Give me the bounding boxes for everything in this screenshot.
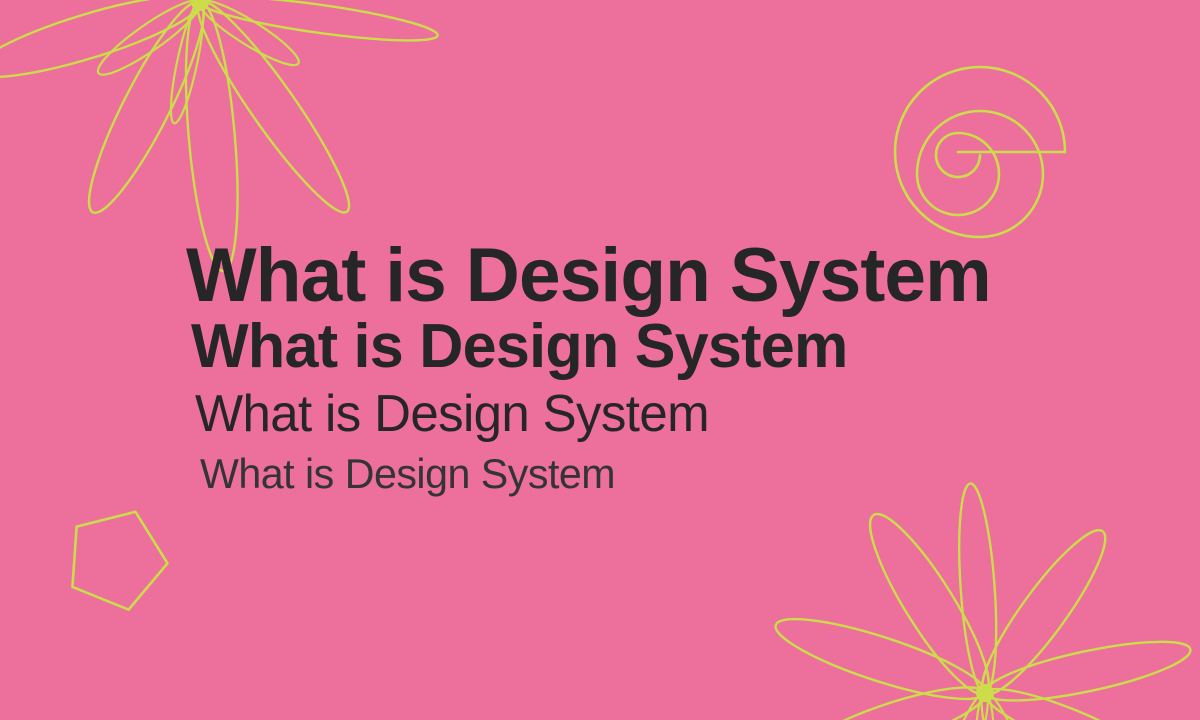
headline-stack: What is Design System What is Design Sys… [0,0,1200,720]
headline-line-4: What is Design System [200,453,615,495]
headline-line-3: What is Design System [195,388,709,440]
headline-line-2: What is Design System [191,316,848,378]
headline-line-1: What is Design System [186,238,991,314]
poster-canvas: What is Design System What is Design Sys… [0,0,1200,720]
